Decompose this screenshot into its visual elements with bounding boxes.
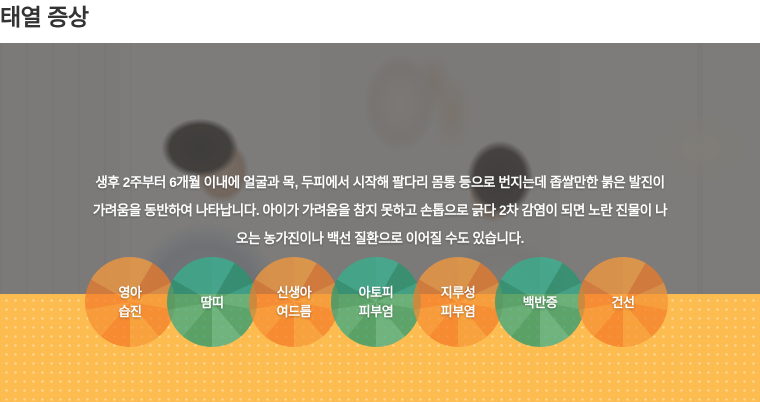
symptom-circle-1[interactable]: 영아 습진 — [85, 257, 175, 347]
symptom-label-7: 건선 — [611, 293, 634, 312]
symptom-circle-7[interactable]: 건선 — [578, 257, 668, 347]
symptom-label-5: 지루성 피부염 — [441, 283, 476, 321]
symptom-circle-2[interactable]: 땀띠 — [167, 257, 257, 347]
hero-banner: 생후 2주부터 6개월 이내에 얼굴과 목, 두피에서 시작해 팔다리 몸통 등… — [0, 43, 760, 402]
page-title: 태열 증상 — [0, 2, 89, 32]
symptom-circle-4[interactable]: 아토피 피부염 — [331, 257, 421, 347]
symptom-label-3: 신생아 여드름 — [277, 283, 312, 321]
page-root: 태열 증상 생후 2주부터 6개월 이내에 얼굴과 목, 두피에서 시작해 팔다… — [0, 0, 760, 402]
symptom-label-4: 아토피 피부염 — [359, 283, 394, 321]
symptom-circle-3[interactable]: 신생아 여드름 — [249, 257, 339, 347]
symptom-label-6: 백반증 — [523, 293, 558, 312]
symptom-label-2: 땀띠 — [200, 293, 223, 312]
symptom-label-1: 영아 습진 — [118, 283, 141, 321]
symptom-circle-5[interactable]: 지루성 피부염 — [413, 257, 503, 347]
symptom-circle-6[interactable]: 백반증 — [495, 257, 585, 347]
symptom-circle-row: 영아 습진 땀띠 신생아 여드름 아토피 피부염 지루성 피부염 백반증 — [0, 43, 760, 402]
